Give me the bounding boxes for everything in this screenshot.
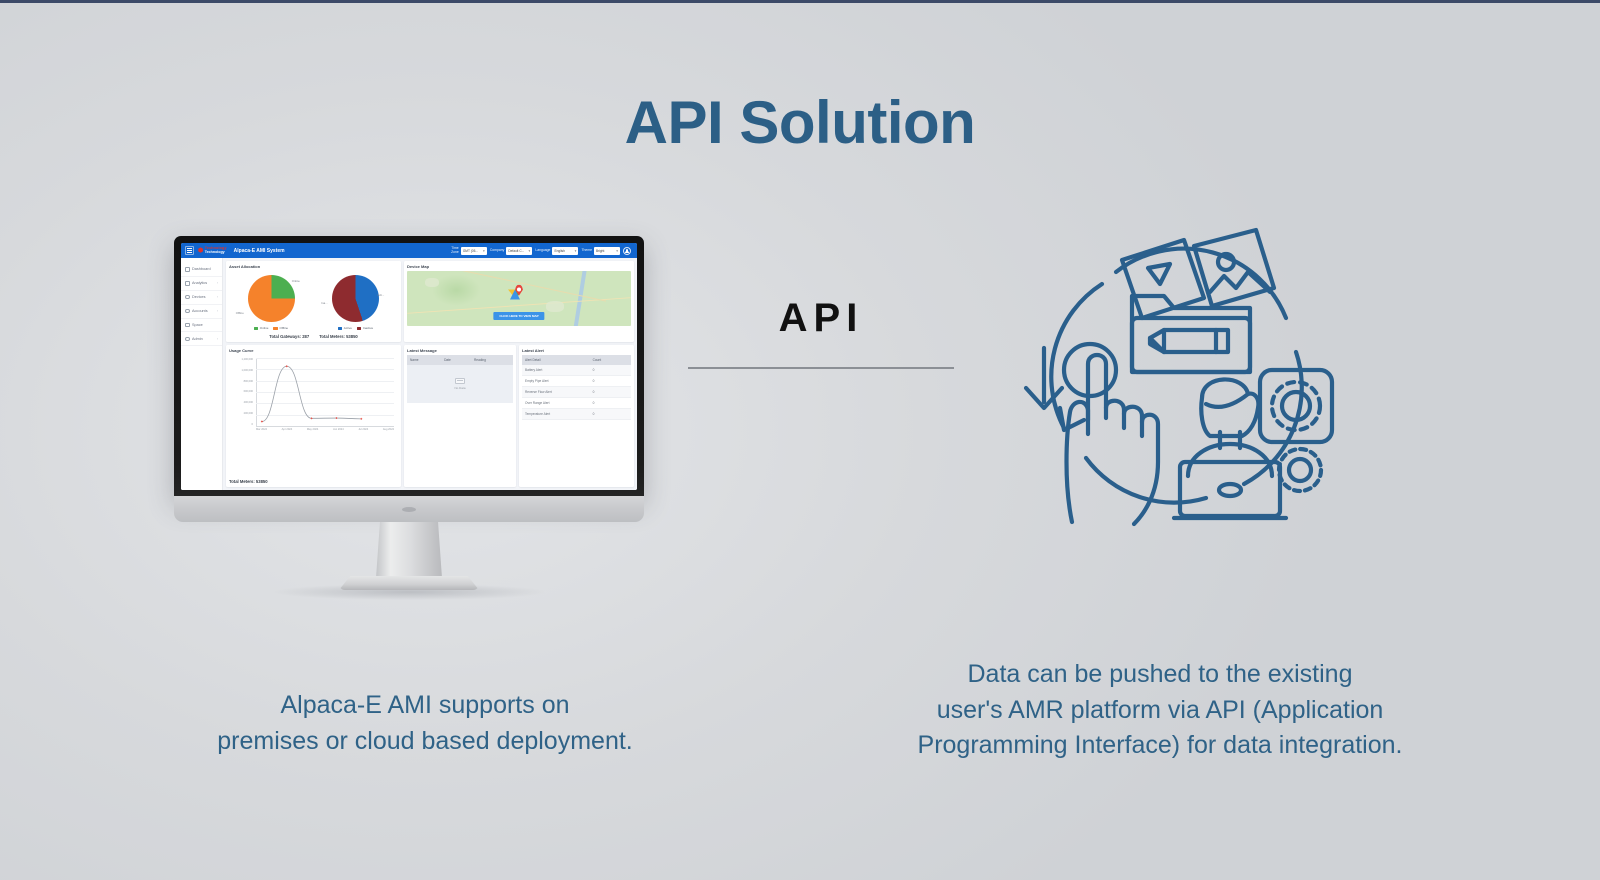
sidebar-item-label: Space <box>192 323 218 327</box>
dashboard-row-bottom: Usage Curve 1,200,000 1,000,000 800,000 … <box>226 345 634 487</box>
usage-curve-y-axis: 1,200,000 1,000,000 800,000 600,000 400,… <box>229 358 255 426</box>
usage-curve-line <box>256 358 394 425</box>
pie-callout-online: Online <box>292 279 300 283</box>
chevron-down-icon: ▾ <box>575 249 577 253</box>
table-row: Temperature Alert0 <box>522 409 631 420</box>
chevron-right-icon: › <box>217 295 218 299</box>
y-tick: 800,000 <box>244 380 253 383</box>
device-map[interactable]: CLICK HERE TO VIEW MAP <box>407 271 631 326</box>
dashboard-content: Asset Allocation Online Offline <box>223 258 637 490</box>
timezone-select[interactable]: GMT (05... ▾ <box>461 247 487 255</box>
caption-right-line-3: Programming Interface) for data integrat… <box>860 728 1460 764</box>
pie-active-inactive <box>332 275 379 322</box>
device-map-card: Device Map <box>404 261 634 342</box>
legend-label-inactive: Inactive <box>363 326 373 330</box>
person-at-laptop-icon <box>1174 379 1286 518</box>
pie-callout-inactive: Ina... <box>321 301 327 305</box>
x-tick: Mar 2024 <box>256 428 267 431</box>
dashboard-row-top: Asset Allocation Online Offline <box>226 261 634 342</box>
app-body: Dashboard Analytics › Devices › <box>181 258 637 490</box>
legend-label-active: Active <box>344 326 352 330</box>
latest-alert-title: Latest Alert <box>522 348 631 353</box>
column-header: Count <box>590 355 631 365</box>
asset-allocation-legends: Online Offline Active Inactive <box>229 324 398 330</box>
sidebar-item-analytics[interactable]: Analytics › <box>181 277 222 291</box>
timezone-control[interactable]: Time Zone GMT (05... ▾ <box>451 247 487 255</box>
column-header: Alert Detail <box>522 355 590 365</box>
view-map-button[interactable]: CLICK HERE TO VIEW MAP <box>493 312 544 320</box>
latest-message-empty-state: No Data <box>407 365 513 403</box>
caption-left-line-2: premises or cloud based deployment. <box>120 724 730 760</box>
gateway-status-pie: Online Offline <box>248 275 295 322</box>
y-tick: 0 <box>252 423 253 426</box>
devices-icon <box>185 295 190 300</box>
page-title: API Solution <box>0 88 1600 157</box>
company-label: Company <box>490 249 505 253</box>
slide-background: API Solution ⬢ Technology Technology Alp… <box>0 0 1600 880</box>
alert-detail: Reverse Flow Alert <box>522 387 590 398</box>
y-tick: 600,000 <box>244 390 253 393</box>
caption-right: Data can be pushed to the existing user'… <box>860 657 1460 764</box>
accounts-icon <box>185 309 190 314</box>
usage-curve-plot <box>256 358 394 426</box>
theme-select[interactable]: Bright ▾ <box>594 247 620 255</box>
latest-message-card: Latest Message Name Date Reading <box>404 345 516 487</box>
sidebar-item-label: Devices <box>192 295 214 299</box>
x-tick: May 2024 <box>307 428 318 431</box>
pie-callout-offline: Offline <box>236 311 244 315</box>
pie-callout-active: Acti... <box>377 293 384 297</box>
asset-allocation-totals: Total Gateways: 287 Total Meters: 53850 <box>229 334 398 339</box>
sidebar-item-label: Admin <box>192 337 214 341</box>
x-tick: Jun 2024 <box>333 428 344 431</box>
table-header-row: Name Date Reading <box>407 355 513 365</box>
sidebar-item-accounts[interactable]: Accounts › <box>181 305 222 319</box>
brand-logo: ⬢ Technology Technology <box>198 247 227 255</box>
user-avatar-icon[interactable] <box>623 247 631 255</box>
monitor-screen: ⬢ Technology Technology Alpaca-E AMI Sys… <box>181 243 637 490</box>
brand-name-bottom: Technology <box>205 251 227 255</box>
asset-allocation-charts: Online Offline Acti... Ina... <box>229 271 398 324</box>
analytics-icon <box>185 281 190 286</box>
asset-allocation-card: Asset Allocation Online Offline <box>226 261 401 342</box>
app-topbar: ⬢ Technology Technology Alpaca-E AMI Sys… <box>181 243 637 258</box>
usage-curve-x-axis: Mar 2024 Apr 2024 May 2024 Jun 2024 Jul … <box>256 428 394 431</box>
usage-curve-card: Usage Curve 1,200,000 1,000,000 800,000 … <box>226 345 401 487</box>
table-row: Battery Alert0 <box>522 365 631 376</box>
table-header-row: Alert Detail Count <box>522 355 631 365</box>
alert-count: 0 <box>590 365 631 376</box>
total-meters: Total Meters: 53850 <box>319 334 358 339</box>
latest-alert-table: Alert Detail Count Battery Alert0 Empty … <box>522 355 631 420</box>
company-select[interactable]: Default C... ▾ <box>506 247 532 255</box>
latest-message-table: Name Date Reading <box>407 355 513 365</box>
gear-icon <box>1260 370 1332 442</box>
table-row: Reverse Flow Alert0 <box>522 387 631 398</box>
caption-right-line-2: user's AMR platform via API (Application <box>860 693 1460 729</box>
gear-icon <box>1279 449 1321 491</box>
timezone-label-line2: Zone <box>451 251 459 255</box>
chevron-down-icon: ▾ <box>616 249 618 253</box>
sidebar-item-devices[interactable]: Devices › <box>181 291 222 305</box>
topbar-controls: Time Zone GMT (05... ▾ Company Defau <box>451 247 633 255</box>
y-tick: 1,200,000 <box>241 358 253 361</box>
sidebar-item-label: Accounts <box>192 309 214 313</box>
map-terrain-blob <box>546 301 564 312</box>
legend-label-online: Online <box>260 326 269 330</box>
x-tick: Apr 2024 <box>282 428 293 431</box>
legend-gateways: Online Offline <box>254 326 288 330</box>
usage-curve-total-meters: Total Meters: 53850 <box>229 479 398 484</box>
theme-label: Theme <box>581 249 592 253</box>
sidebar: Dashboard Analytics › Devices › <box>181 258 223 490</box>
column-header: Reading <box>471 355 513 365</box>
api-center-block: API <box>688 296 954 369</box>
down-arrow-icon <box>1026 348 1062 408</box>
x-tick: Aug 2024 <box>383 428 394 431</box>
company-control[interactable]: Company Default C... ▾ <box>490 247 533 255</box>
app-name: Alpaca-E AMI System <box>234 248 285 254</box>
alert-count: 0 <box>590 398 631 409</box>
alert-count: 0 <box>590 376 631 387</box>
api-word: API <box>688 296 954 341</box>
desktop-monitor-mockup: ⬢ Technology Technology Alpaca-E AMI Sys… <box>174 236 644 606</box>
monitor-bezel: ⬢ Technology Technology Alpaca-E AMI Sys… <box>174 236 644 496</box>
sidebar-item-label: Analytics <box>192 281 214 285</box>
admin-icon <box>185 337 190 342</box>
empty-box-icon <box>455 378 465 384</box>
logo-mark-icon: ⬢ <box>198 248 203 254</box>
meter-status-pie: Acti... Ina... <box>332 275 379 322</box>
language-control[interactable]: Language English ▾ <box>535 247 578 255</box>
map-terrain-blob <box>425 278 439 287</box>
y-tick: 400,000 <box>244 401 253 404</box>
map-river <box>573 271 587 326</box>
table-row: Over Range Alert0 <box>522 398 631 409</box>
theme-control[interactable]: Theme Bright ▾ <box>581 247 620 255</box>
photo-cards-icon <box>1194 230 1274 306</box>
language-label: Language <box>535 249 550 253</box>
x-tick: Jul 2024 <box>358 428 368 431</box>
alert-detail: Empty Pipe Alert <box>522 376 590 387</box>
chevron-down-icon: ▾ <box>529 249 531 253</box>
chevron-right-icon: › <box>217 337 218 341</box>
alert-detail: Over Range Alert <box>522 398 590 409</box>
usage-curve-title: Usage Curve <box>229 348 398 353</box>
caption-left-line-1: Alpaca-E AMI supports on <box>120 688 730 724</box>
table-row: Empty Pipe Alert0 <box>522 376 631 387</box>
map-pin-cluster <box>508 289 530 300</box>
legend-meters: Active Inactive <box>338 326 374 330</box>
sidebar-item-space[interactable]: Space <box>181 319 222 333</box>
alert-detail: Temperature Alert <box>522 409 590 420</box>
legend-label-offline: Offline <box>279 326 288 330</box>
sidebar-item-dashboard[interactable]: Dashboard <box>181 263 222 277</box>
usage-curve-chart: 1,200,000 1,000,000 800,000 600,000 400,… <box>229 358 398 436</box>
caption-left: Alpaca-E AMI supports on premises or clo… <box>120 688 730 759</box>
pie-online-offline <box>248 275 295 322</box>
pencil-icon <box>1150 330 1228 352</box>
total-gateways: Total Gateways: 287 <box>269 334 309 339</box>
asset-allocation-title: Asset Allocation <box>229 264 398 269</box>
latest-message-title: Latest Message <box>407 348 513 353</box>
legend-swatch-inactive <box>357 327 362 330</box>
chevron-right-icon: › <box>217 281 218 285</box>
space-icon <box>185 323 190 328</box>
y-tick: 200,000 <box>244 412 253 415</box>
monitor-stand-neck <box>376 522 442 578</box>
alert-detail: Battery Alert <box>522 365 590 376</box>
latest-alert-card: Latest Alert Alert Detail Count Battery … <box>519 345 634 487</box>
dashboard-icon <box>185 267 190 272</box>
sidebar-item-label: Dashboard <box>192 267 218 271</box>
monitor-stand-base <box>339 576 479 590</box>
hamburger-icon[interactable] <box>185 246 194 255</box>
sidebar-item-admin[interactable]: Admin › <box>181 332 222 346</box>
language-select[interactable]: English ▾ <box>552 247 578 255</box>
empty-state-text: No Data <box>454 386 465 390</box>
api-divider-rule <box>688 367 954 369</box>
legend-swatch-active <box>338 327 343 330</box>
alert-count: 0 <box>590 387 631 398</box>
alert-count: 0 <box>590 409 631 420</box>
folder-icon <box>1132 296 1250 372</box>
y-tick: 1,000,000 <box>241 369 253 372</box>
column-header: Name <box>407 355 441 365</box>
column-header: Date <box>441 355 471 365</box>
api-integration-illustration <box>998 222 1338 534</box>
monitor-chin <box>174 496 644 522</box>
legend-swatch-offline <box>273 327 278 330</box>
chevron-down-icon: ▾ <box>483 249 485 253</box>
top-accent-rule <box>0 0 1600 3</box>
chevron-right-icon: › <box>217 309 218 313</box>
device-map-title: Device Map <box>407 264 631 269</box>
legend-swatch-online <box>254 327 259 330</box>
caption-right-line-1: Data can be pushed to the existing <box>860 657 1460 693</box>
